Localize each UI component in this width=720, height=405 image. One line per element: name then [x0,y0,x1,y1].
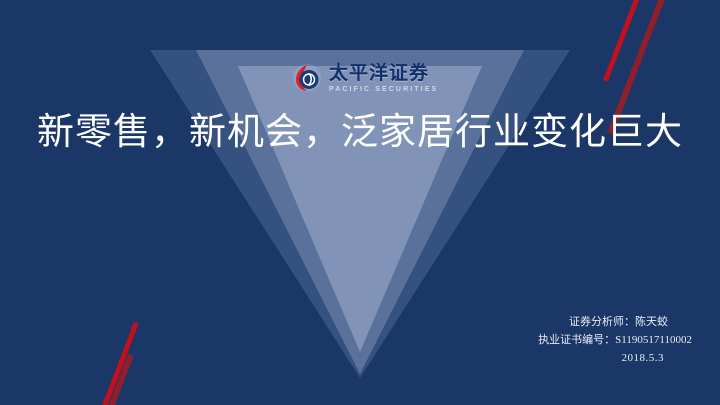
analyst-license-number: 执业证书编号：S1190517110002 [538,331,692,349]
presentation-slide: 太平洋证券 PACIFIC SECURITIES 新零售，新机会，泛家居行业变化… [0,0,720,405]
analyst-credits: 证券分析师：陈天蛟 执业证书编号：S1190517110002 2018.5.3 [538,313,692,367]
pacific-securities-emblem-icon [292,63,322,93]
analyst-name: 证券分析师：陈天蛟 [538,313,692,331]
middle-triangle-shape [196,50,524,374]
outer-triangle-shape [150,50,570,378]
inner-triangle-shape [238,66,482,352]
logo-wordmark: 太平洋证券 PACIFIC SECURITIES [329,64,438,93]
accent-stripe-bottom-left-2 [97,354,133,405]
accent-stripe-bottom-left-1 [92,322,139,405]
accent-stripe-top-right-1 [603,0,641,82]
presentation-date: 2018.5.3 [538,349,692,367]
logo-name-en: PACIFIC SECURITIES [329,86,438,93]
slide-title: 新零售，新机会，泛家居行业变化巨大 [0,112,720,155]
company-logo: 太平洋证券 PACIFIC SECURITIES [292,63,438,93]
logo-name-cn: 太平洋证券 [329,64,438,83]
